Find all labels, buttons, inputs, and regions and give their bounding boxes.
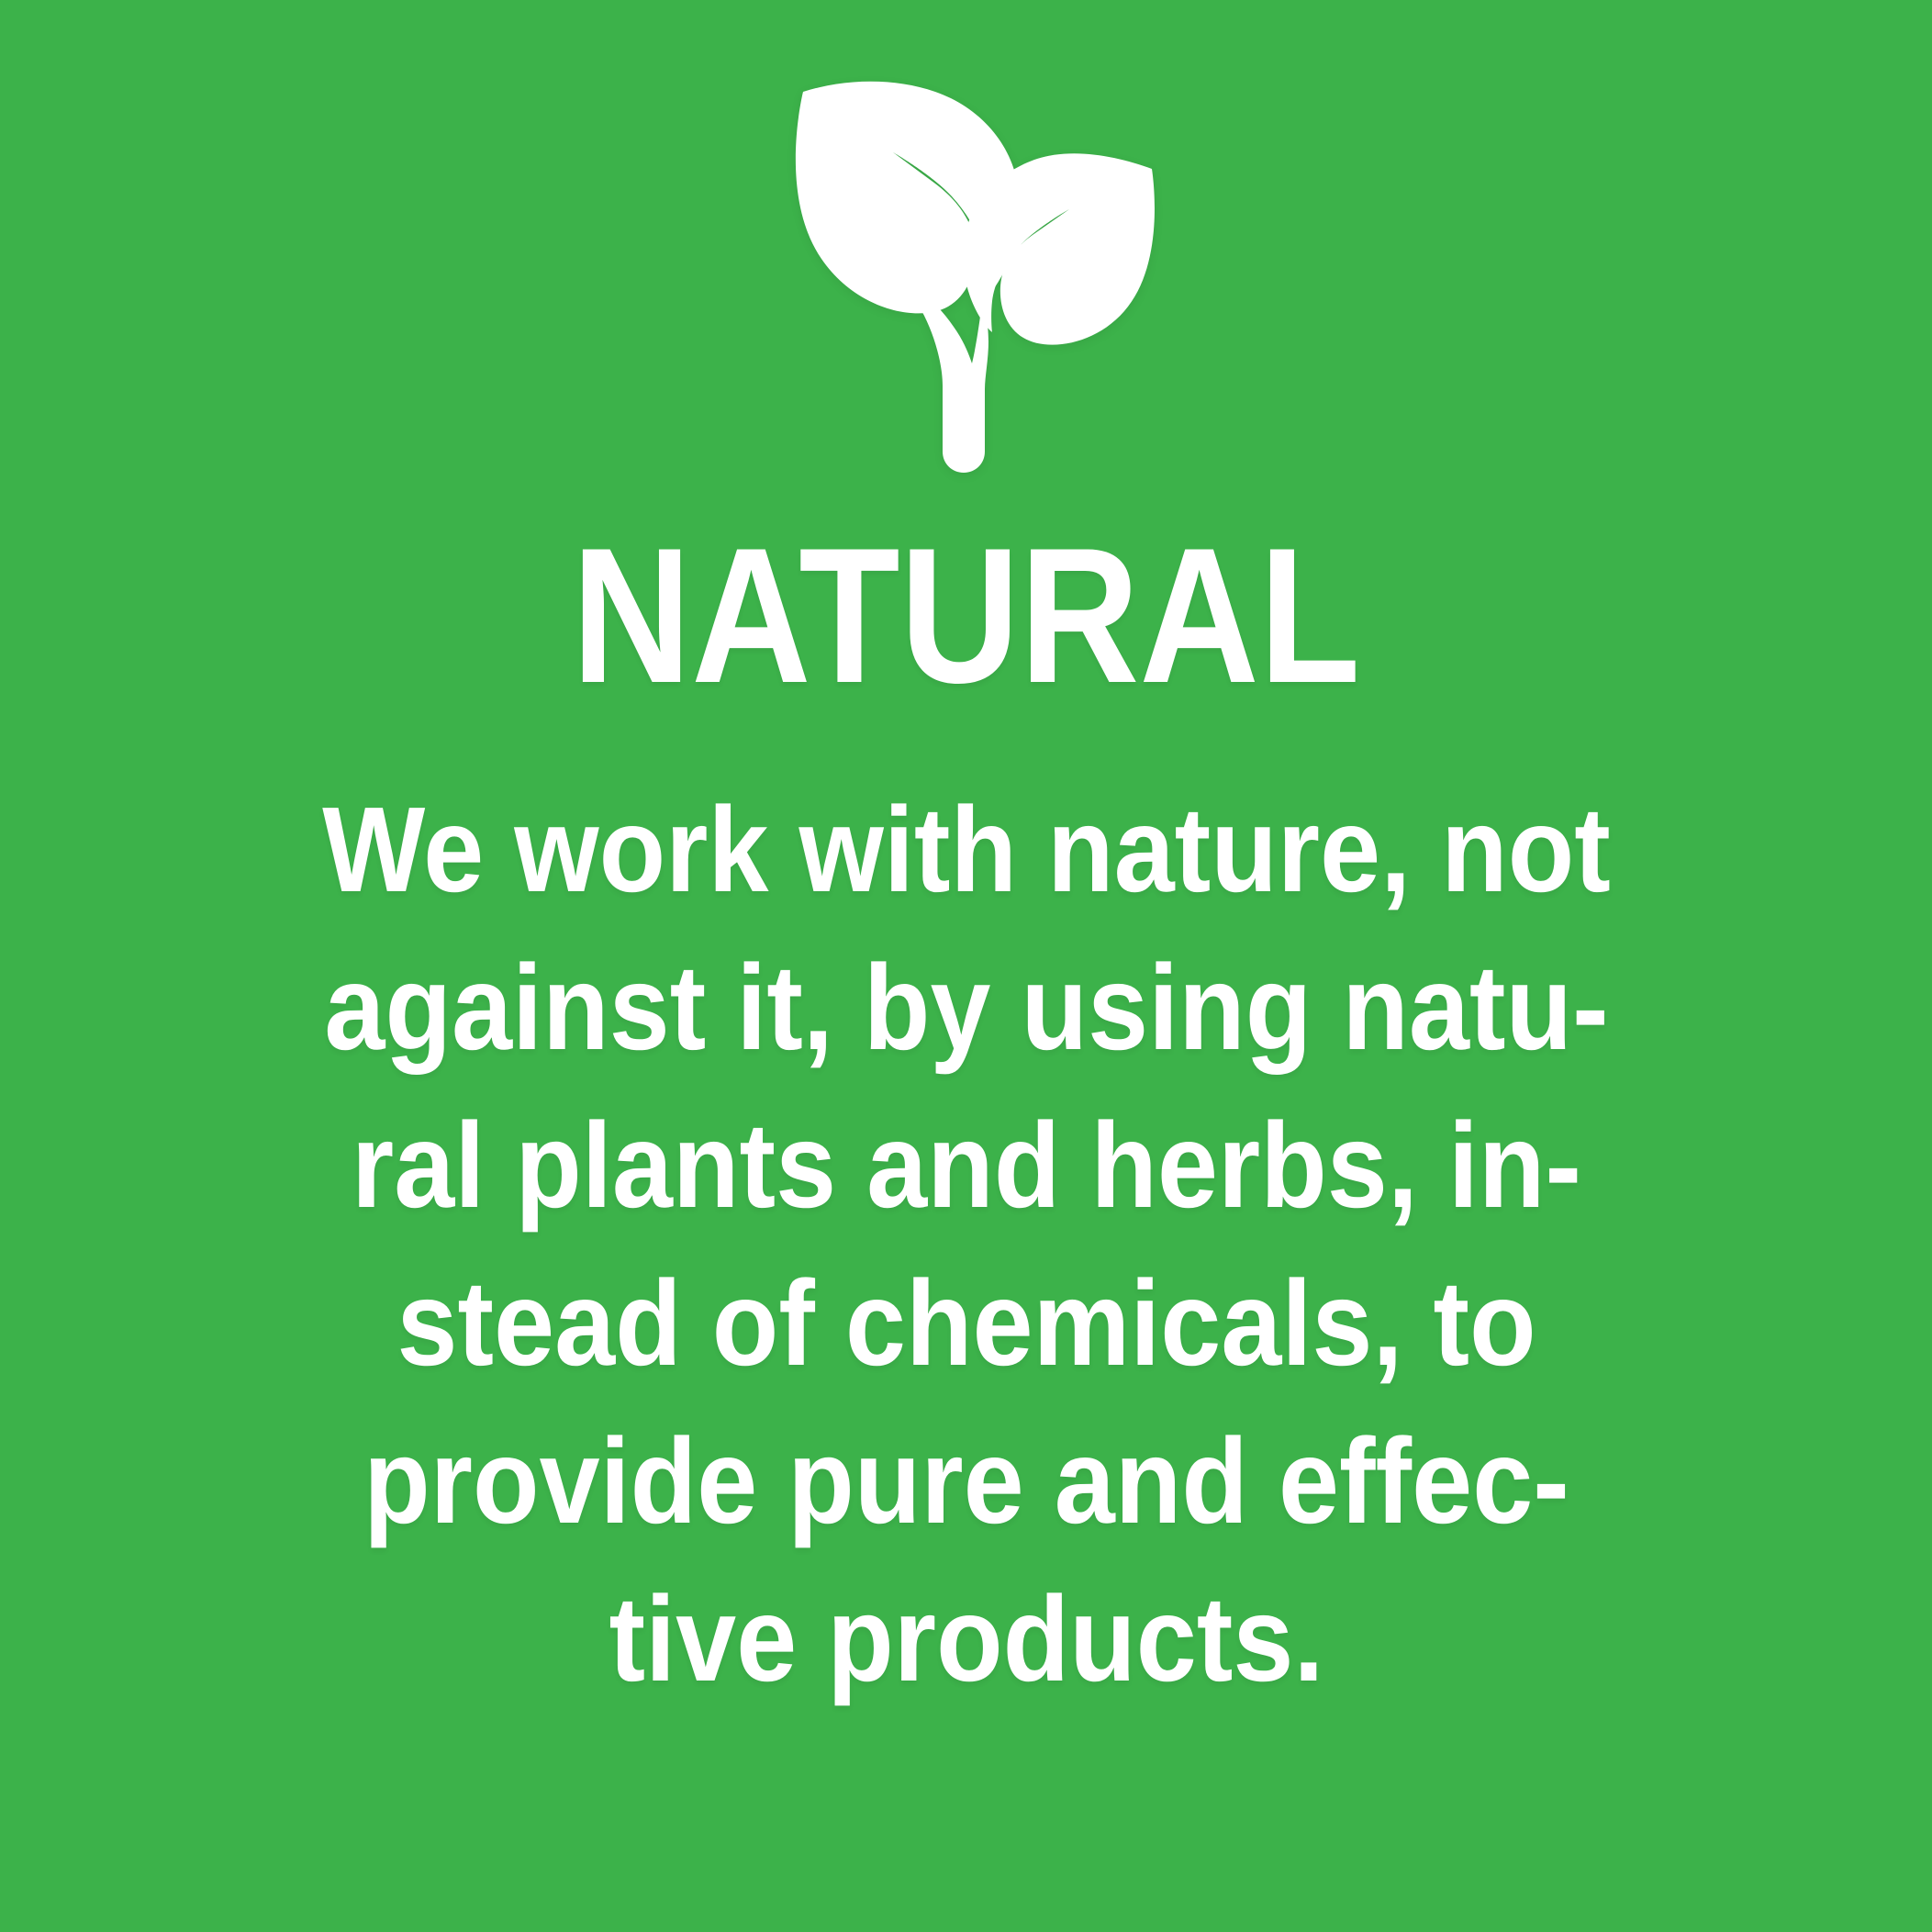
body-line: provide pure and effec-: [256, 1402, 1677, 1560]
body-line: We work with nature, not: [256, 771, 1677, 929]
body-line: against it, by using natu-: [256, 929, 1677, 1087]
natural-value-card: NATURAL We work with nature, not against…: [0, 0, 1932, 1932]
page-title: NATURAL: [135, 519, 1796, 712]
body-line: stead of chemicals, to: [256, 1245, 1677, 1402]
body-line: tive products.: [256, 1560, 1677, 1718]
body-copy: We work with nature, not against it, by …: [177, 771, 1756, 1718]
body-line: ral plants and herbs, in-: [256, 1087, 1677, 1245]
sprout-icon: [755, 66, 1178, 479]
